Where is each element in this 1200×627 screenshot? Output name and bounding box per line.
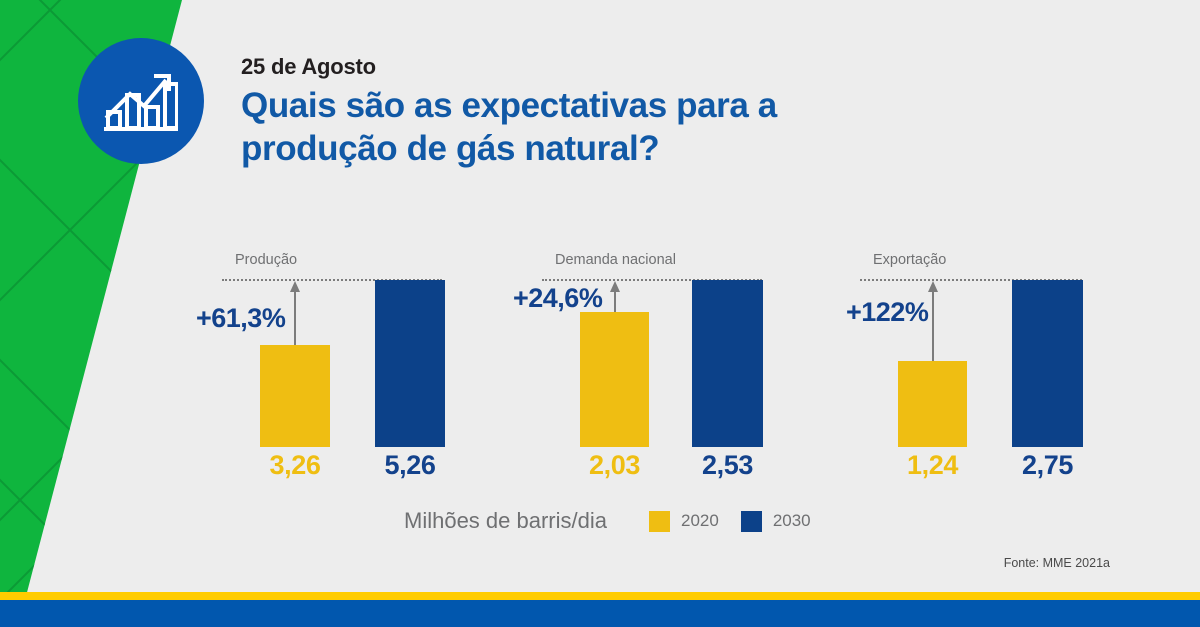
bar-2020 — [580, 312, 649, 447]
growth-percent-label: +122% — [846, 297, 928, 328]
bar-value-2030: 2,75 — [1012, 450, 1083, 481]
group-category-label: Demanda nacional — [555, 252, 676, 268]
group-category-label: Produção — [235, 252, 297, 268]
source-note: Fonte: MME 2021a — [1004, 556, 1110, 570]
legend-unit-title: Milhões de barris/dia — [404, 508, 607, 534]
bar-chart: Produção +61,3% 3,26 5,26 Demanda nacion… — [0, 0, 1200, 592]
bar-2030 — [1012, 280, 1083, 447]
legend-swatch-2030 — [741, 511, 762, 532]
chart-legend: Milhões de barris/dia 2020 2030 — [404, 508, 811, 534]
legend-item-2030: 2030 — [741, 511, 811, 532]
legend-label-2030: 2030 — [773, 511, 811, 531]
growth-arrow — [608, 281, 622, 315]
bar-value-2020: 2,03 — [580, 450, 649, 481]
bar-value-2020: 3,26 — [260, 450, 330, 481]
bar-2030 — [692, 280, 763, 447]
growth-percent-label: +24,6% — [513, 283, 602, 314]
legend-swatch-2020 — [649, 511, 670, 532]
legend-label-2020: 2020 — [681, 511, 719, 531]
growth-percent-label: +61,3% — [196, 303, 285, 334]
bar-value-2030: 5,26 — [375, 450, 445, 481]
footer-blue-bar — [0, 600, 1200, 627]
growth-arrow — [926, 281, 940, 363]
infographic-canvas: 25 de Agosto Quais são as expectativas p… — [0, 0, 1200, 627]
footer-yellow-stripe — [0, 592, 1200, 600]
bar-2020 — [260, 345, 330, 447]
group-category-label: Exportação — [873, 252, 946, 268]
bar-value-2020: 1,24 — [898, 450, 967, 481]
growth-arrow — [288, 281, 302, 347]
bar-2020 — [898, 361, 967, 447]
bar-value-2030: 2,53 — [692, 450, 763, 481]
bar-2030 — [375, 280, 445, 447]
legend-item-2020: 2020 — [649, 511, 719, 532]
